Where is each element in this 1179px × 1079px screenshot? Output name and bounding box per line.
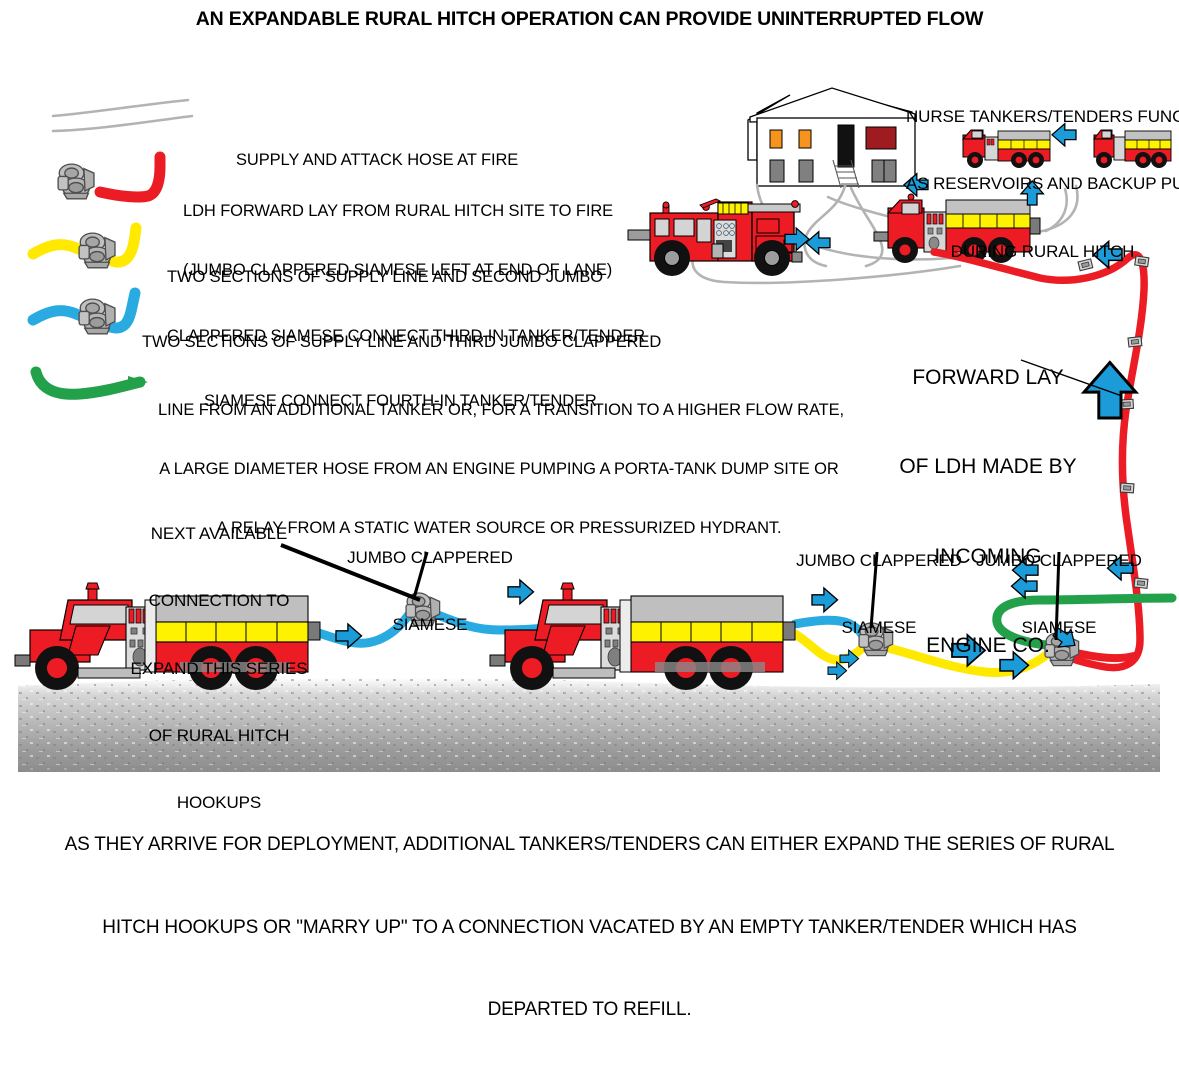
red-hose-with-siamese-swatch <box>58 157 160 199</box>
callout-line: SIAMESE <box>970 617 1148 639</box>
legend-line: TWO SECTIONS OF SUPPLY LINE AND THIRD JU… <box>142 333 702 353</box>
callout-line: JUMBO CLAPPERED <box>970 550 1148 572</box>
callout-line: DURING RURAL HITCH <box>906 241 1179 263</box>
callout-siamese-left: JUMBO CLAPPERED SIAMESE <box>340 502 520 682</box>
callout-line: NURSE TANKERS/TENDERS FUNCTION <box>906 106 1179 128</box>
yellow-hose-with-siamese-swatch <box>33 228 136 268</box>
pumper-engine-at-fire <box>628 199 802 276</box>
footer-line: AS THEY ARRIVE FOR DEPLOYMENT, ADDITIONA… <box>0 831 1179 859</box>
legend-line: TWO SECTIONS OF SUPPLY LINE AND SECOND J… <box>167 268 645 288</box>
callout-line: SIAMESE <box>790 617 968 639</box>
blue-hose-with-siamese-swatch <box>33 293 135 334</box>
callout-line: JUMBO CLAPPERED <box>340 547 520 569</box>
callout-line: EXPAND THIS SERIES <box>116 658 322 680</box>
footer-line: DEPARTED TO REFILL. <box>0 996 1179 1024</box>
callout-line: OF LDH MADE BY <box>884 452 1092 482</box>
callout-line: CONNECTION TO <box>116 590 322 612</box>
legend-line: LDH FORWARD LAY FROM RURAL HITCH SITE TO… <box>183 202 613 222</box>
callout-line: SIAMESE <box>340 614 520 636</box>
callout-line: FORWARD LAY <box>884 363 1092 393</box>
burning-house <box>748 88 915 188</box>
callout-siamese-right: JUMBO CLAPPERED SIAMESE <box>970 505 1148 685</box>
callout-siamese-mid: JUMBO CLAPPERED SIAMESE <box>790 505 968 685</box>
footer-line: HITCH HOOKUPS OR "MARRY UP" TO A CONNECT… <box>0 914 1179 942</box>
callout-nurse-tankers: NURSE TANKERS/TENDERS FUNCTION AS RESERV… <box>906 61 1179 308</box>
callout-line: JUMBO CLAPPERED <box>790 550 968 572</box>
tanker-tender-middle <box>490 583 795 690</box>
footer-note: AS THEY ARRIVE FOR DEPLOYMENT, ADDITIONA… <box>0 776 1179 1079</box>
green-hose-swatch <box>36 372 148 394</box>
callout-line: NEXT AVAILABLE <box>116 523 322 545</box>
callout-line: OF RURAL HITCH <box>116 725 322 747</box>
legend-line: LINE FROM AN ADDITIONAL TANKER OR, FOR A… <box>158 401 840 421</box>
callout-line: AS RESERVOIRS AND BACKUP PUMPS <box>906 173 1179 195</box>
diagram-canvas: AN EXPANDABLE RURAL HITCH OPERATION CAN … <box>0 0 1179 861</box>
legend-line: A LARGE DIAMETER HOSE FROM AN ENGINE PUM… <box>158 460 840 480</box>
gray-hose-swatch <box>53 100 192 131</box>
